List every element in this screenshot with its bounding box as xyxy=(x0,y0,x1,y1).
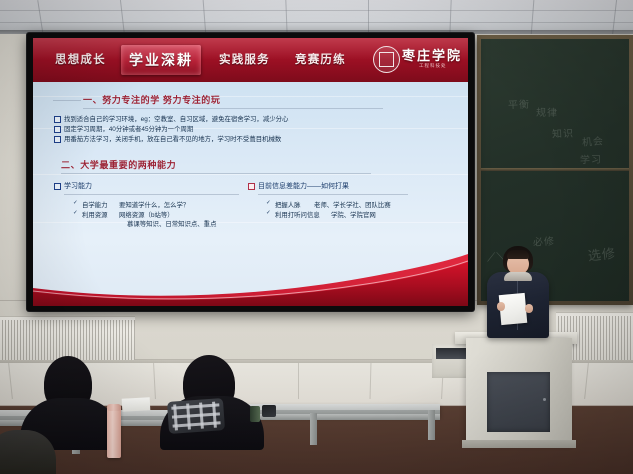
radiator-fin xyxy=(107,320,108,362)
paper-sheet xyxy=(122,397,151,411)
radiator-fin xyxy=(35,320,36,362)
nav-item-1-active[interactable]: 学业深耕 xyxy=(121,45,201,75)
radiator-fin xyxy=(588,316,589,362)
slide-body: 一、努力专注的学 努力专注的玩 找到适合自己的学习环境，eg：空教室、自习区域，… xyxy=(33,82,468,306)
bullet-check-icon: ✓ xyxy=(266,210,271,216)
presentation-slide[interactable]: 思想成长 学业深耕 实践服务 竞赛历练 枣庄学院 工程科技处 一、努力专注的学 … xyxy=(33,38,468,306)
radiator-fin xyxy=(612,316,613,362)
radiator-fin xyxy=(119,320,120,362)
presenter-hand-left xyxy=(497,302,505,311)
pink-thermos xyxy=(107,406,121,458)
section2-heading: 二、大学最重要的两种能力 xyxy=(61,158,176,171)
radiator-fin xyxy=(2,320,3,362)
radiator-fin xyxy=(11,320,12,362)
col-left-title: 学习能力 xyxy=(64,181,92,191)
presenter xyxy=(487,246,549,338)
radiator-fin xyxy=(14,320,15,362)
ceiling-seam xyxy=(0,10,633,11)
blackboard-divider xyxy=(481,168,629,171)
presenter-hand-right xyxy=(525,304,533,313)
radiator-fin xyxy=(5,320,6,362)
radiator-fin xyxy=(618,316,619,362)
col-right-item-0-desc: 老师、学长学社、团队比赛 xyxy=(314,200,391,209)
radiator-fin xyxy=(59,320,60,362)
radiator-fin xyxy=(131,320,132,362)
radiator-fin xyxy=(582,316,583,362)
radiator-fin xyxy=(80,320,81,362)
radiator-fin xyxy=(17,320,18,362)
radiator-fin xyxy=(86,320,87,362)
radiator-fin xyxy=(597,316,598,362)
radiator-fin xyxy=(26,320,27,362)
radiator-fin xyxy=(101,320,102,362)
nav-item-2[interactable]: 实践服务 xyxy=(219,47,270,73)
wave-svg xyxy=(33,248,468,306)
radiator-fin xyxy=(83,320,84,362)
section1-bullet-2: 用番茄方法学习，关闭手机，放在自己看不见的地方，学习时不受葺目机械数 xyxy=(64,134,281,143)
desk-leg xyxy=(428,410,435,440)
radiator-fin xyxy=(98,320,99,362)
radiator-fin xyxy=(122,320,123,362)
radiator-fin xyxy=(77,320,78,362)
floor-tile-line xyxy=(8,363,13,399)
col-left-item-1-term: 利用资源 xyxy=(82,210,108,219)
section1-heading: 一、努力专注的学 努力专注的玩 xyxy=(83,93,221,106)
classroom-scene: 平衡 规律 知识 机会 学习 必修 选修 ⟋⟍ 思想成长 学业深耕 实践服务 竞… xyxy=(0,0,633,474)
checkbox-icon xyxy=(54,136,61,143)
radiator-fin xyxy=(125,320,126,362)
water-bottle xyxy=(250,406,260,422)
radiator-fin xyxy=(110,320,111,362)
col-right-item-0-term: 把握人脉 xyxy=(275,200,301,209)
radiator-fin xyxy=(128,320,129,362)
radiator-fin xyxy=(621,316,622,362)
slide-nav: 思想成长 学业深耕 实践服务 竞赛历练 xyxy=(33,47,393,73)
radiator-fin xyxy=(41,320,42,362)
floor-tile-line xyxy=(153,363,156,399)
radiator-fin xyxy=(585,316,586,362)
podium-knob-icon[interactable] xyxy=(543,398,546,401)
radiator-fin xyxy=(113,320,114,362)
radiator-fin xyxy=(579,316,580,362)
radiator-fin xyxy=(591,316,592,362)
chalk-mark: 平衡 xyxy=(508,100,530,112)
checkbox-icon-right-col xyxy=(248,183,255,190)
checkbox-icon xyxy=(54,116,61,123)
radiator-fin xyxy=(627,316,628,362)
backpack xyxy=(167,398,225,434)
nav-item-0[interactable]: 思想成长 xyxy=(55,47,106,73)
radiator-fin xyxy=(32,320,33,362)
radiator-fin xyxy=(23,320,24,362)
radiator-fin xyxy=(594,316,595,362)
radiator-fin xyxy=(74,320,75,362)
radiator-fin xyxy=(615,316,616,362)
floor-tile-line xyxy=(370,363,372,399)
chalk-mark: 知识 xyxy=(552,129,574,141)
radiator-fin xyxy=(609,316,610,362)
chalk-mark: 规律 xyxy=(536,108,558,119)
radiator-fin xyxy=(8,320,9,362)
floor-tile-line xyxy=(298,363,299,399)
podium-base xyxy=(462,440,576,448)
radiator-fin xyxy=(89,320,90,362)
slide-wave-decoration xyxy=(33,248,468,306)
radiator-fin xyxy=(38,320,39,362)
university-seal-icon xyxy=(373,46,400,73)
checkbox-icon-left-col xyxy=(54,183,61,190)
col-right-item-1-desc: 学院、学院官网 xyxy=(331,210,376,219)
desk-leg xyxy=(310,413,317,445)
col-left-item-1-desc: 网络资源（b站等） xyxy=(119,210,174,219)
floor-tile-line xyxy=(584,363,589,399)
bullet-dash-icon: ✓ xyxy=(73,200,78,206)
radiator-fin xyxy=(600,316,601,362)
university-subtitle: 工程科技处 xyxy=(419,63,447,69)
thermos-cap xyxy=(107,404,121,411)
slide-header-bar: 思想成长 学业深耕 实践服务 竞赛历练 枣庄学院 工程科技处 xyxy=(33,38,468,82)
radiator-fin xyxy=(134,320,135,362)
radiator-fin xyxy=(92,320,93,362)
section1-bullet-1: 固定学习周期，40分钟或者45分钟为一个周期 xyxy=(64,124,193,133)
bullet-dash-icon: ✓ xyxy=(73,210,78,216)
checkbox-icon xyxy=(54,126,61,133)
radiator-fin xyxy=(47,320,48,362)
col-left-item-2-desc: 慕课等知识、日常知识点、重点 xyxy=(127,219,216,228)
radiator-fin xyxy=(104,320,105,362)
chalk-mark: 学习 xyxy=(580,155,602,167)
university-logo: 枣庄学院 工程科技处 xyxy=(373,44,468,76)
radiator-fin xyxy=(29,320,30,362)
radiator-fin xyxy=(20,320,21,362)
presenter-collar xyxy=(504,272,532,281)
bullet-check-icon: ✓ xyxy=(266,200,271,206)
ceiling-seam xyxy=(0,22,633,23)
smartphone[interactable] xyxy=(262,405,276,417)
radiator-fin xyxy=(50,320,51,362)
chalk-mark: 选修 xyxy=(588,249,617,263)
chalk-mark: 机会 xyxy=(582,136,605,149)
col-right-item-1-term: 利用打听问信息 xyxy=(275,210,320,219)
col-left-item-0-term: 自学能力 xyxy=(82,200,108,209)
radiator-fin xyxy=(606,316,607,362)
radiator-fin xyxy=(53,320,54,362)
col-left-item-0-desc: 要知道学什么，怎么学？ xyxy=(119,200,189,209)
podium-panel xyxy=(487,372,550,432)
radiator-fin xyxy=(116,320,117,362)
radiator-fin xyxy=(630,316,631,362)
nav-item-3[interactable]: 竞赛历练 xyxy=(295,47,346,73)
cabinet-slot xyxy=(436,348,466,359)
section1-bullet-0: 找到适合自己的学习环境，eg：空教室、自习区域，避免在宿舍学习，减少分心 xyxy=(64,114,288,123)
radiator-fin xyxy=(624,316,625,362)
col-right-title: 目前信息差能力——如何打果 xyxy=(258,181,349,191)
radiator-fin xyxy=(603,316,604,362)
radiator-fin xyxy=(44,320,45,362)
radiator-fin xyxy=(95,320,96,362)
radiator-fin xyxy=(56,320,57,362)
university-name: 枣庄学院 xyxy=(402,45,462,64)
